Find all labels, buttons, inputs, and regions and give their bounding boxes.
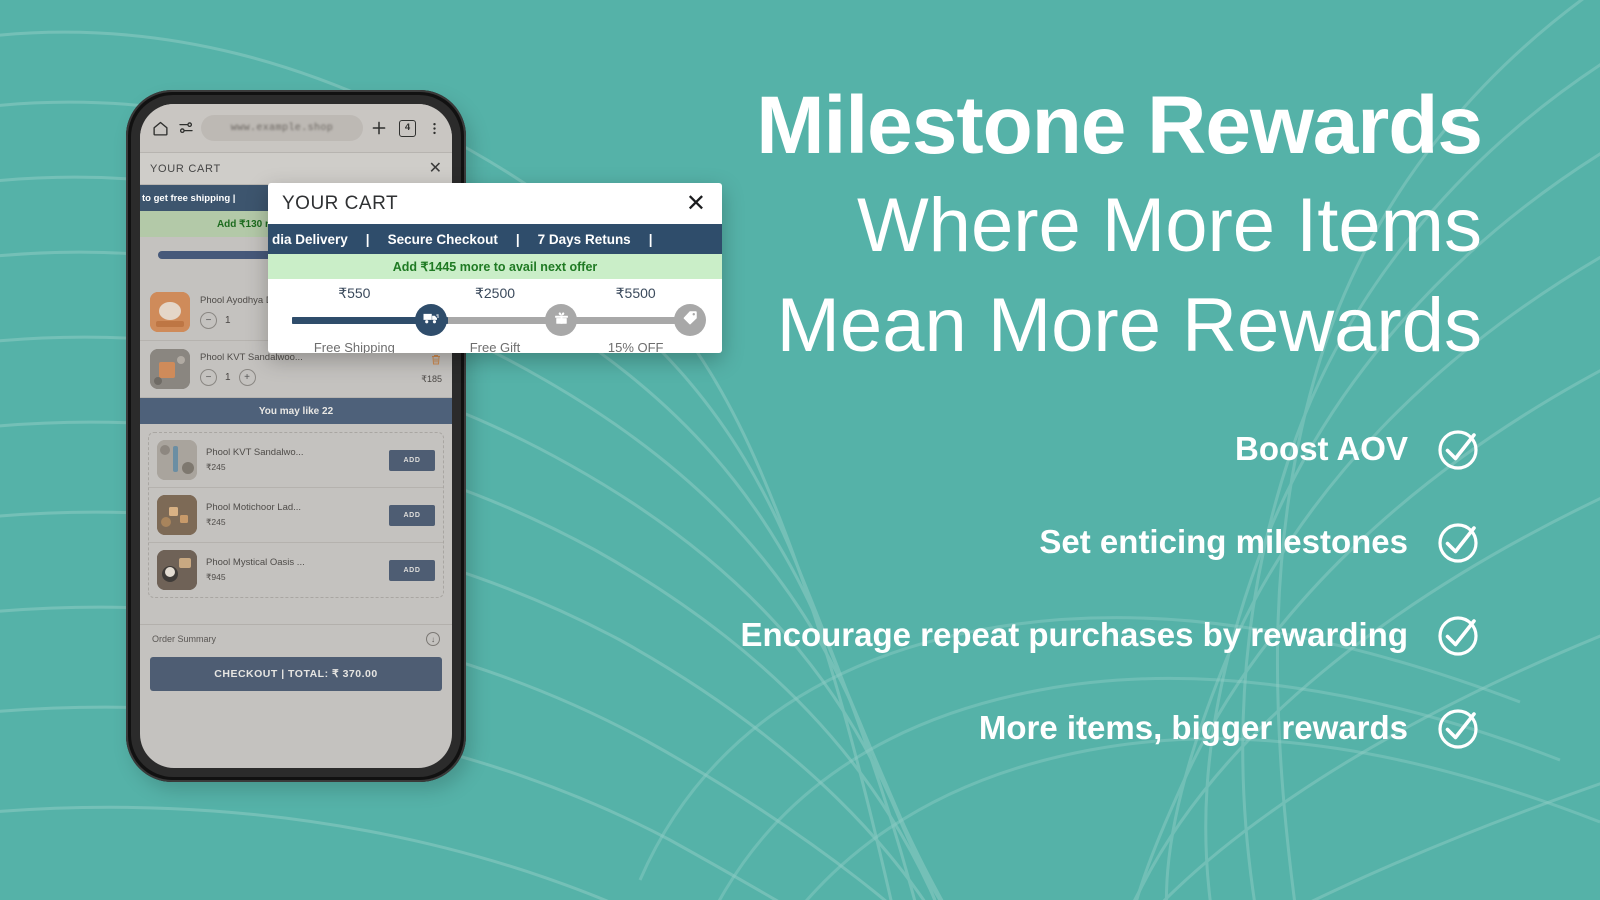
quantity-value: 1 [225,315,231,326]
order-summary-row[interactable]: Order Summary ↓ [140,624,452,651]
cart-item-name: Phool KVT Sandalwoo... [200,352,411,363]
milestone-amount-1: ₹550 [284,285,425,302]
recommendation-list: Phool KVT Sandalwo... ₹245 ADD Phool Mot… [148,432,444,598]
recommendation-name: Phool Mystical Oasis ... [206,557,380,568]
product-thumbnail [157,440,197,480]
product-thumbnail [150,292,190,332]
recommendation-name: Phool Motichoor Lad... [206,502,380,513]
site-ticker-text: to get free shipping | [142,193,235,204]
site-cart-title: YOUR CART [150,163,221,175]
tune-icon[interactable] [178,120,194,136]
quantity-value: 1 [225,372,231,383]
decrease-quantity-button[interactable]: − [200,369,217,386]
close-icon[interactable]: ✕ [429,161,442,177]
bullet-label: Boost AOV [1235,430,1408,468]
bullet-label: Encourage repeat purchases by rewarding [740,616,1408,654]
decrease-quantity-button[interactable]: − [200,312,217,329]
recommendation-price: ₹945 [206,572,380,583]
plus-icon[interactable] [370,119,388,137]
list-item[interactable]: Phool Mystical Oasis ... ₹945 ADD [149,543,443,597]
headline-line-3: Mean More Rewards [777,288,1482,364]
recommendation-info: Phool KVT Sandalwo... ₹245 [206,447,380,473]
more-vertical-icon[interactable] [427,121,442,136]
increase-quantity-button[interactable]: + [239,369,256,386]
milestone-label-1: Free Shipping [284,340,425,353]
ticker-item-checkout: Secure Checkout [388,232,498,247]
add-to-cart-button[interactable]: ADD [389,505,435,526]
recommendation-info: Phool Motichoor Lad... ₹245 [206,502,380,528]
bullet-label: Set enticing milestones [1039,523,1408,561]
recommendation-banner: You may like 22 [140,398,452,424]
product-thumbnail [150,349,190,389]
quantity-stepper[interactable]: − 1 + [200,369,411,386]
site-cart-header: YOUR CART ✕ [140,153,452,185]
recommendation-price: ₹245 [206,517,380,528]
product-thumbnail [157,550,197,590]
headline-line-1: Milestone Rewards [756,85,1482,167]
add-to-cart-button[interactable]: ADD [389,450,435,471]
check-circle-icon [1434,611,1482,659]
milestone-node-free-shipping[interactable] [415,304,447,336]
bullet-label: More items, bigger rewards [979,709,1408,747]
url-text: www.example.shop [231,123,333,134]
list-item: Set enticing milestones [602,518,1482,566]
ticker-item-delivery: dia Delivery [272,232,348,247]
marketing-panel: Milestone Rewards Where More Items Mean … [600,0,1600,900]
list-item[interactable]: Phool KVT Sandalwo... ₹245 ADD [149,433,443,488]
milestone-label-2: Free Gift [425,340,566,353]
check-circle-icon [1434,704,1482,752]
cart-item-price: ₹185 [421,374,442,385]
ticker-divider: | [516,232,520,247]
home-icon[interactable] [152,120,169,137]
cart-item-actions: ₹185 [421,353,442,385]
check-circle-icon [1434,425,1482,473]
list-item: More items, bigger rewards [602,704,1482,752]
list-item[interactable]: Phool Motichoor Lad... ₹245 ADD [149,488,443,543]
feature-bullet-list: Boost AOV Set enticing milestones Encour… [602,425,1482,797]
truck-icon [422,309,440,332]
popup-title: YOUR CART [282,193,398,215]
milestone-amount-2: ₹2500 [425,285,566,302]
ticker-divider: | [366,232,370,247]
recommendation-name: Phool KVT Sandalwo... [206,447,380,458]
headline-line-2: Where More Items [857,188,1482,264]
gift-icon [553,309,570,331]
recommendation-price: ₹245 [206,462,380,473]
cart-item-info: Phool KVT Sandalwoo... − 1 + [200,352,411,386]
browser-toolbar: www.example.shop 4 [140,104,452,153]
order-summary-label: Order Summary [152,634,216,644]
list-item: Boost AOV [602,425,1482,473]
recommendation-info: Phool Mystical Oasis ... ₹945 [206,557,380,583]
add-to-cart-button[interactable]: ADD [389,560,435,581]
product-thumbnail [157,495,197,535]
url-bar[interactable]: www.example.shop [201,115,363,141]
chevron-down-icon[interactable]: ↓ [426,632,440,646]
trash-icon[interactable] [421,353,442,368]
checkout-button[interactable]: CHECKOUT | TOTAL: ₹ 370.00 [150,657,442,691]
tab-count-button[interactable]: 4 [399,120,416,137]
list-item: Encourage repeat purchases by rewarding [602,611,1482,659]
check-circle-icon [1434,518,1482,566]
milestone-node-free-gift[interactable] [545,304,577,336]
